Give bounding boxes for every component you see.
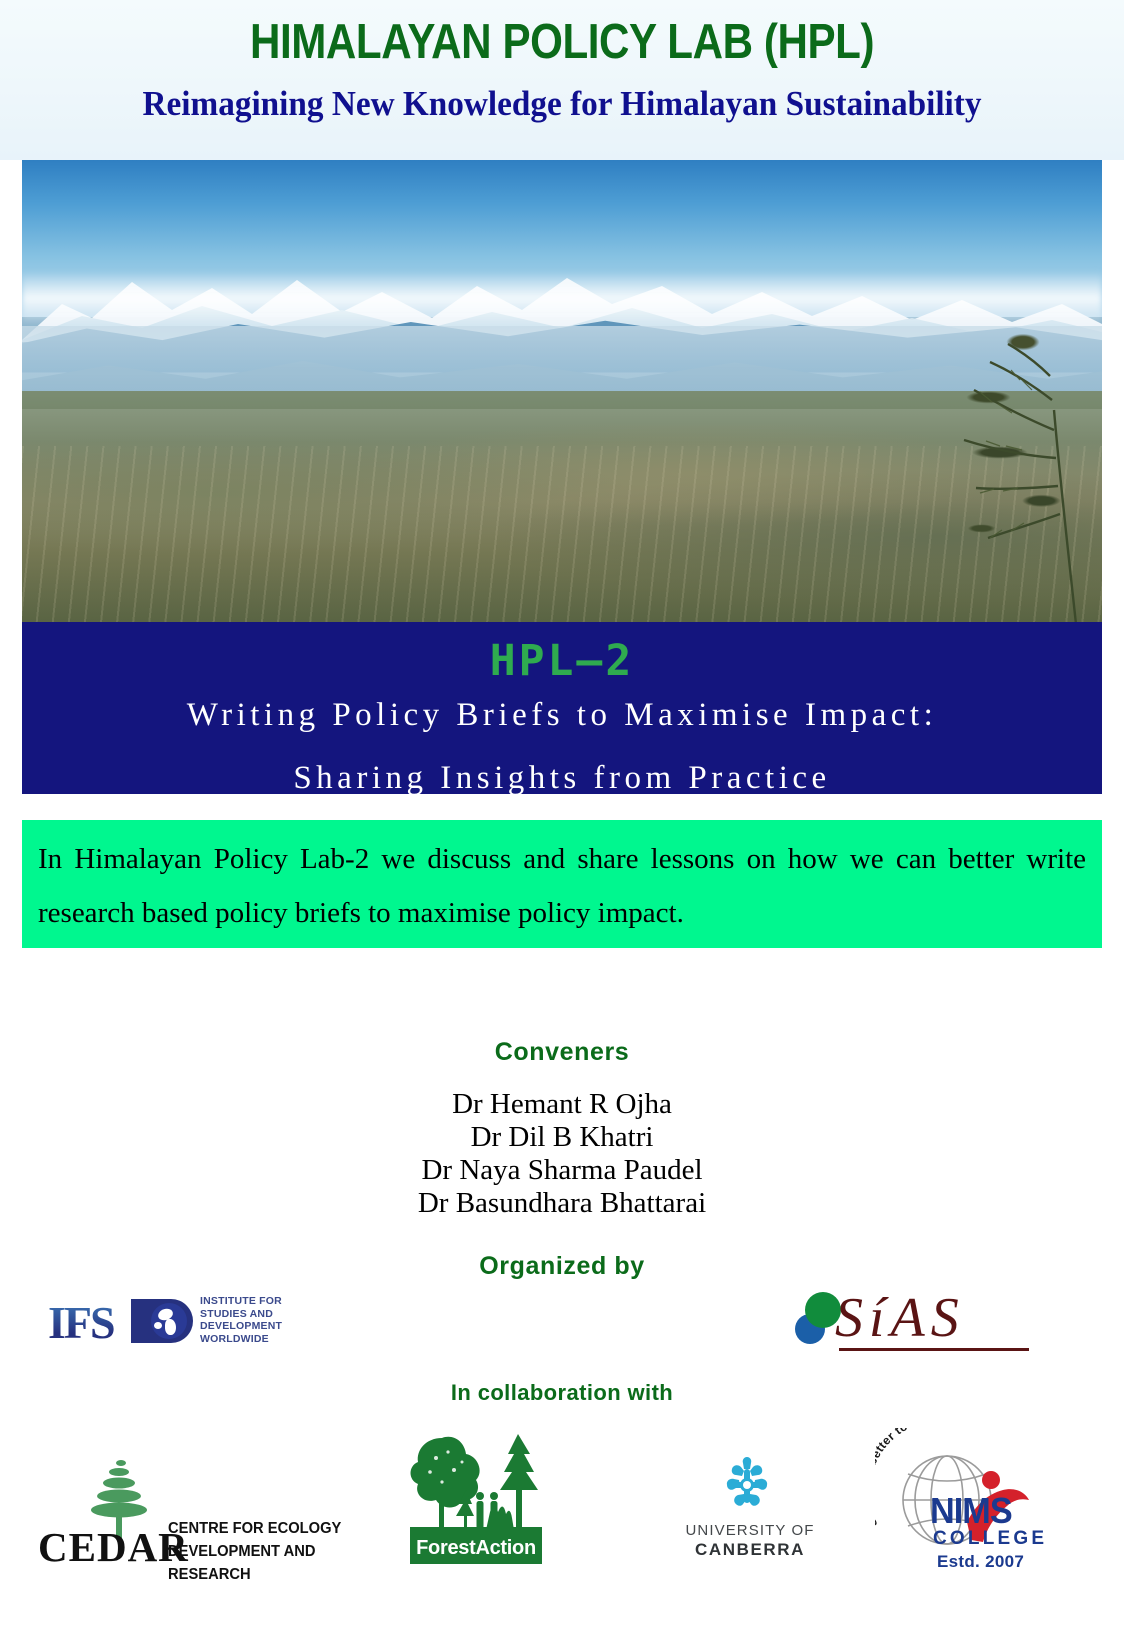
sias-underline (839, 1348, 1029, 1351)
forestaction-bar: ForestAction (410, 1532, 542, 1564)
hero-mountain-image (22, 160, 1102, 622)
cedar-tagline-line-2: DEVELOPMENT AND RESEARCH (168, 1540, 352, 1586)
foreground-tree (862, 280, 1092, 622)
convener-name: Dr Naya Sharma Paudel (0, 1154, 1124, 1187)
forest-with-people-icon (404, 1428, 548, 1536)
ifsd-logo: IFS INSTITUTE FOR STUDIES AND DEVELOPMEN… (48, 1292, 298, 1354)
cedar-tagline: CENTRE FOR ECOLOGY DEVELOPMENT AND RESEA… (168, 1517, 352, 1586)
canberra-wordmark: UNIVERSITY OF CANBERRA (660, 1521, 840, 1560)
collaboration-heading: In collaboration with (0, 1380, 1124, 1406)
sias-wordmark: SíAS (835, 1286, 965, 1350)
canberra-snowflake-icon (712, 1455, 782, 1517)
forestaction-wordmark: ForestAction (416, 1537, 536, 1560)
convener-name: Dr Basundhara Bhattarai (0, 1187, 1124, 1220)
organized-by-heading: Organized by (0, 1252, 1124, 1281)
ifsd-acronym: IFS (48, 1296, 114, 1349)
canberra-line-2: CANBERRA (695, 1540, 805, 1559)
globe-icon (151, 1303, 187, 1339)
nims-established-label: Estd. 2007 (937, 1552, 1024, 1572)
sias-logo: SíAS (795, 1288, 1035, 1356)
cedar-logo: CEDAR CENTRE FOR ECOLOGY DEVELOPMENT AND… (30, 1455, 360, 1575)
edition-label: HPL–2 (22, 636, 1102, 686)
nims-wordmark: NIMS (930, 1490, 1012, 1532)
description-text: In Himalayan Policy Lab-2 we discuss and… (38, 832, 1086, 940)
poster-root: HIMALAYAN POLICY LAB (HPL) Reimagining N… (0, 0, 1124, 1632)
page-subtitle: Reimagining New Knowledge for Himalayan … (28, 84, 1096, 124)
cedar-acronym: CEDAR (38, 1523, 189, 1571)
cedar-tagline-line-1: CENTRE FOR ECOLOGY (168, 1517, 352, 1540)
nims-college-label: COLLEGE (933, 1528, 1047, 1550)
hpl2-banner: HPL–2 Writing Policy Briefs to Maximise … (22, 622, 1102, 794)
convener-name: Dr Hemant R Ojha (0, 1088, 1124, 1121)
conveners-list: Dr Hemant R Ojha Dr Dil B Khatri Dr Naya… (0, 1088, 1124, 1220)
canberra-line-1: UNIVERSITY OF (660, 1521, 840, 1540)
conveners-heading: Conveners (0, 1038, 1124, 1067)
description-block: In Himalayan Policy Lab-2 we discuss and… (22, 820, 1102, 948)
convener-name: Dr Dil B Khatri (0, 1121, 1124, 1154)
poster-header: HIMALAYAN POLICY LAB (HPL) Reimagining N… (0, 0, 1124, 160)
forestaction-logo: ForestAction (404, 1428, 548, 1568)
page-title: HIMALAYAN POLICY LAB (HPL) (79, 14, 1046, 70)
university-of-canberra-logo: UNIVERSITY OF CANBERRA (660, 1455, 840, 1565)
banner-line-1: Writing Policy Briefs to Maximise Impact… (22, 697, 1102, 734)
nims-college-logo: Strive for better tomorrow NIMS COLLEGE … (875, 1428, 1055, 1578)
banner-line-2: Sharing Insights from Practice (22, 760, 1102, 797)
ifsd-tagline: INSTITUTE FOR STUDIES AND DEVELOPMENT WO… (200, 1295, 310, 1345)
